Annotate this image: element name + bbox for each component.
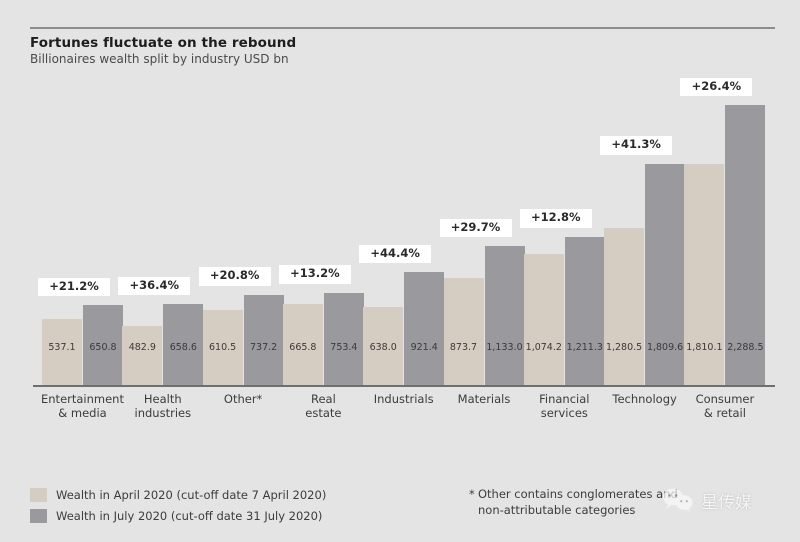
growth-badge: +12.8% — [520, 209, 592, 228]
bar-value-label: 665.8 — [283, 342, 323, 353]
bar-value-label: 1,211.3 — [565, 342, 605, 353]
bar-value-label: 610.5 — [203, 342, 243, 353]
bar-group: 537.1650.8+21.2% — [42, 0, 123, 390]
bar-group: 873.71,133.0+29.7% — [444, 0, 525, 390]
bar-group: 1,810.12,288.5+26.4% — [684, 0, 765, 390]
bar-value-label: 1,074.2 — [524, 342, 564, 353]
bar-july[interactable] — [404, 272, 444, 385]
bar-chart-plot: 537.1650.8+21.2%Entertainment& media482.… — [0, 0, 800, 390]
bar-july[interactable] — [485, 246, 525, 385]
bar-value-label: 650.8 — [83, 342, 123, 353]
bar-value-label: 921.4 — [404, 342, 444, 353]
bar-july[interactable] — [565, 237, 605, 385]
growth-badge: +29.7% — [440, 219, 512, 238]
bar-value-label: 737.2 — [244, 342, 284, 353]
legend-label-april: Wealth in April 2020 (cut-off date 7 Apr… — [56, 488, 326, 502]
growth-badge: +41.3% — [600, 136, 672, 155]
bar-april[interactable] — [604, 228, 644, 385]
bar-value-label: 638.0 — [363, 342, 403, 353]
x-axis-category-label: Consumer& retail — [665, 392, 785, 420]
growth-badge: +26.4% — [680, 78, 752, 97]
growth-badge: +20.8% — [199, 267, 271, 286]
legend-item-july: Wealth in July 2020 (cut-off date 31 Jul… — [30, 505, 326, 526]
bar-group: 1,280.51,809.6+41.3% — [604, 0, 685, 390]
legend-swatch-april — [30, 488, 47, 502]
bar-value-label: 1,810.1 — [684, 342, 724, 353]
category-label-line: services — [504, 406, 624, 420]
growth-badge: +44.4% — [359, 245, 431, 264]
bar-value-label: 1,280.5 — [604, 342, 644, 353]
bar-value-label: 873.7 — [444, 342, 484, 353]
chart-legend: Wealth in April 2020 (cut-off date 7 Apr… — [30, 484, 326, 526]
category-label-line: Consumer — [665, 392, 785, 406]
bar-april[interactable] — [444, 278, 484, 385]
legend-label-july: Wealth in July 2020 (cut-off date 31 Jul… — [56, 509, 322, 523]
bar-july[interactable] — [244, 295, 284, 385]
bar-april[interactable] — [524, 254, 564, 385]
footnote-text: Other contains conglomerates and non-att… — [478, 487, 678, 517]
bar-value-label: 2,288.5 — [725, 342, 765, 353]
category-label-line: & retail — [665, 406, 785, 420]
growth-badge: +36.4% — [118, 277, 190, 296]
growth-badge: +21.2% — [38, 278, 110, 297]
bar-group: 665.8753.4+13.2% — [283, 0, 364, 390]
bar-value-label: 482.9 — [122, 342, 162, 353]
wechat-icon — [662, 487, 694, 513]
bar-july[interactable] — [324, 293, 364, 385]
bar-group: 1,074.21,211.3+12.8% — [524, 0, 605, 390]
bar-value-label: 1,809.6 — [645, 342, 685, 353]
watermark-text: 星传媒 — [701, 488, 752, 513]
watermark: 星传媒 — [662, 487, 752, 513]
bar-value-label: 1,133.0 — [485, 342, 525, 353]
legend-item-april: Wealth in April 2020 (cut-off date 7 Apr… — [30, 484, 326, 505]
footnote: * Other contains conglomerates and non-a… — [478, 486, 693, 518]
category-label-line: estate — [263, 406, 383, 420]
bar-april[interactable] — [122, 326, 162, 385]
bar-value-label: 658.6 — [163, 342, 203, 353]
growth-badge: +13.2% — [279, 265, 351, 284]
bar-value-label: 753.4 — [324, 342, 364, 353]
legend-swatch-july — [30, 509, 47, 523]
footnote-marker: * — [469, 486, 475, 502]
bar-group: 638.0921.4+44.4% — [363, 0, 444, 390]
category-label-line: industries — [103, 406, 223, 420]
chart-sheet: Fortunes fluctuate on the rebound Billio… — [0, 0, 800, 542]
bar-group: 482.9658.6+36.4% — [122, 0, 203, 390]
bar-value-label: 537.1 — [42, 342, 82, 353]
bar-group: 610.5737.2+20.8% — [203, 0, 284, 390]
